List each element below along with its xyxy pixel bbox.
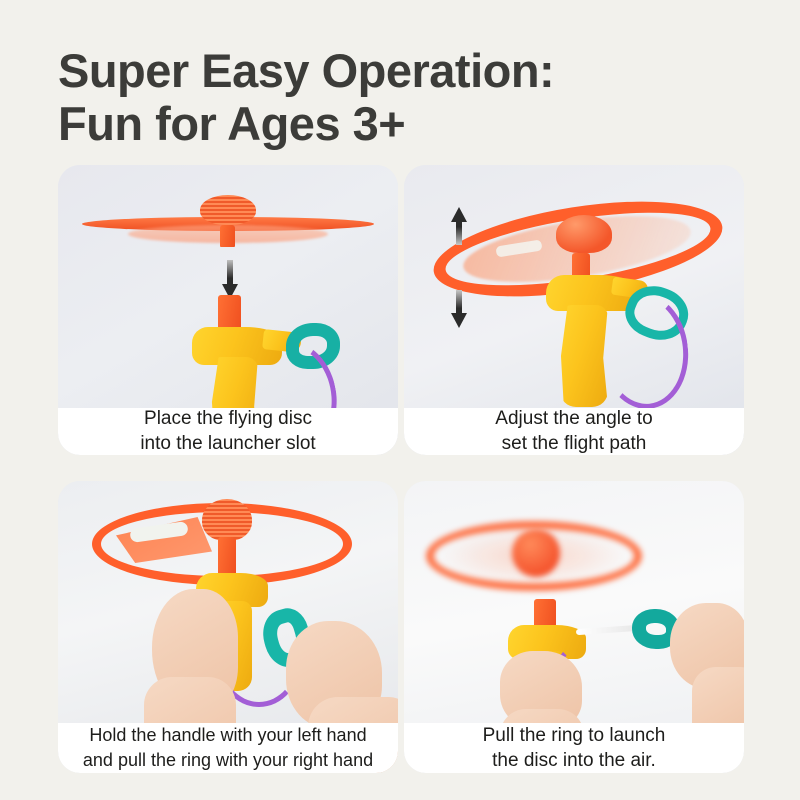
step-panel-2: Adjust the angle to set the flight path — [404, 165, 744, 455]
disc-hub — [556, 215, 612, 253]
down-arrow-icon — [221, 260, 239, 300]
step-1-caption: Place the flying disc into the launcher … — [58, 408, 398, 455]
step-2-caption: Adjust the angle to set the flight path — [404, 408, 744, 455]
step-4-caption: Pull the ring to launch the disc into th… — [404, 723, 744, 773]
page-title: Super Easy Operation: Fun for Ages 3+ — [58, 44, 758, 150]
disc-shaft — [218, 537, 236, 577]
disc-hub — [200, 195, 256, 225]
down-arrow-icon — [450, 290, 468, 328]
spinning-disc-hub — [512, 529, 560, 577]
disc-shaft — [220, 225, 235, 247]
steps-grid: Place the flying disc into the launcher … — [58, 165, 744, 773]
disc-hub — [202, 499, 252, 541]
step-panel-4: Pull the ring to launch the disc into th… — [404, 481, 744, 773]
step-panel-3: Hold the handle with your left hand and … — [58, 481, 398, 773]
step-3-caption: Hold the handle with your left hand and … — [58, 723, 398, 773]
pull-string — [576, 625, 640, 635]
up-arrow-icon — [450, 207, 468, 245]
step-panel-1: Place the flying disc into the launcher … — [58, 165, 398, 455]
promo-infographic: Super Easy Operation: Fun for Ages 3+ — [0, 0, 800, 800]
